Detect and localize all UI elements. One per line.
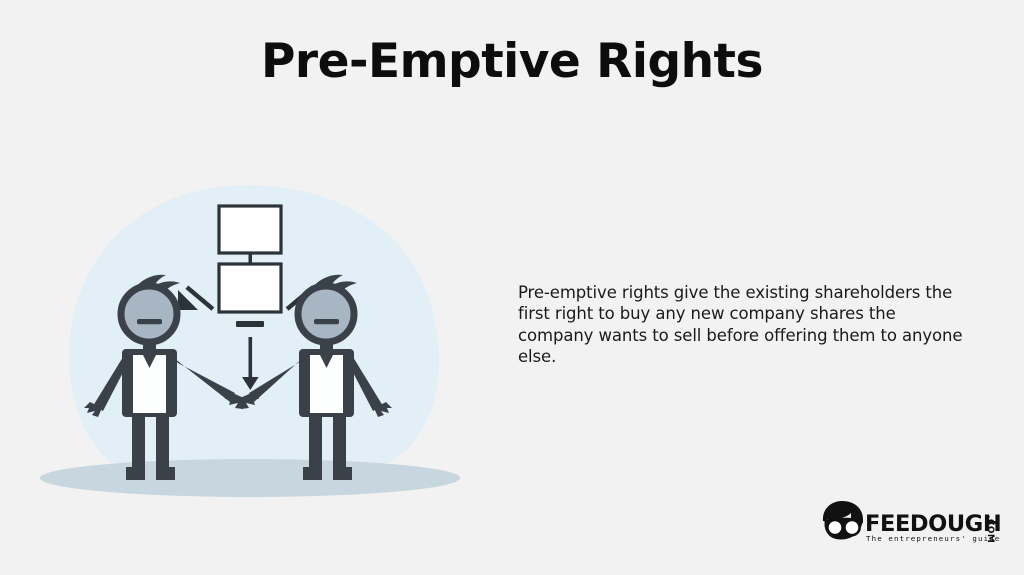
head-right	[298, 286, 354, 342]
ground-shadow	[40, 459, 460, 497]
foot-right-a	[303, 467, 322, 480]
foot-right-b	[333, 467, 352, 480]
foot-left-b	[156, 467, 175, 480]
body-text: Pre-emptive rights give the existing sha…	[518, 282, 970, 367]
feedough-logo[interactable]: FEEDOUGH .COM The entrepreneurs' guide	[818, 499, 1000, 545]
foot-left-a	[126, 467, 145, 480]
feedough-face-icon	[823, 501, 863, 540]
page-title: Pre-Emptive Rights	[0, 36, 1024, 88]
slide-canvas: Pre-Emptive Rights	[0, 0, 1024, 575]
mouth-right	[314, 319, 339, 324]
illustration	[30, 165, 480, 505]
head-left	[121, 286, 177, 342]
mouth-left	[137, 319, 162, 324]
logo-tagline: The entrepreneurs' guide	[866, 534, 1000, 543]
share-certificate-top	[219, 206, 281, 253]
share-certificate-bottom	[219, 264, 281, 312]
dash-mark	[236, 321, 264, 327]
